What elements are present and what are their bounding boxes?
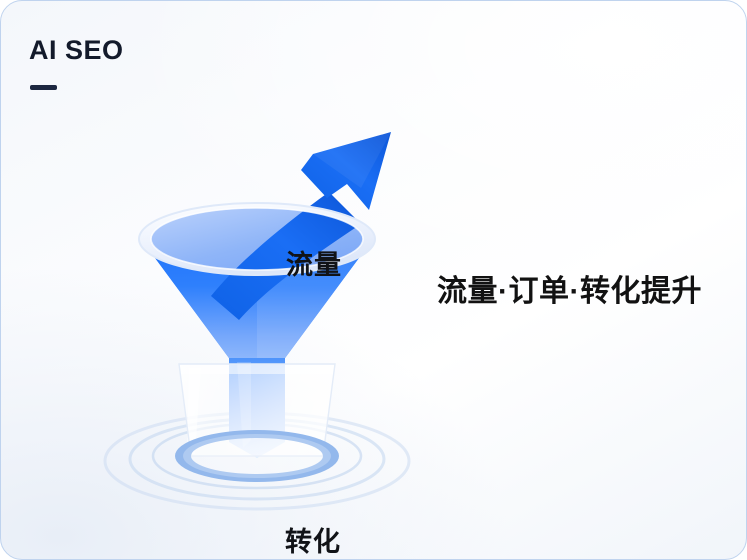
title-underline-rule: [30, 85, 57, 90]
funnel-illustration: 流量 转化: [61, 96, 461, 526]
funnel-label-traffic: 流量: [286, 252, 342, 279]
tagline-text: 流量·订单·转化提升: [437, 277, 702, 307]
seo-promo-card: AI SEO 流量·订单·转化提升: [0, 0, 747, 560]
base-ring: [175, 430, 339, 482]
funnel-label-conversion: 转化: [285, 529, 341, 556]
page-title: AI SEO: [29, 37, 124, 64]
